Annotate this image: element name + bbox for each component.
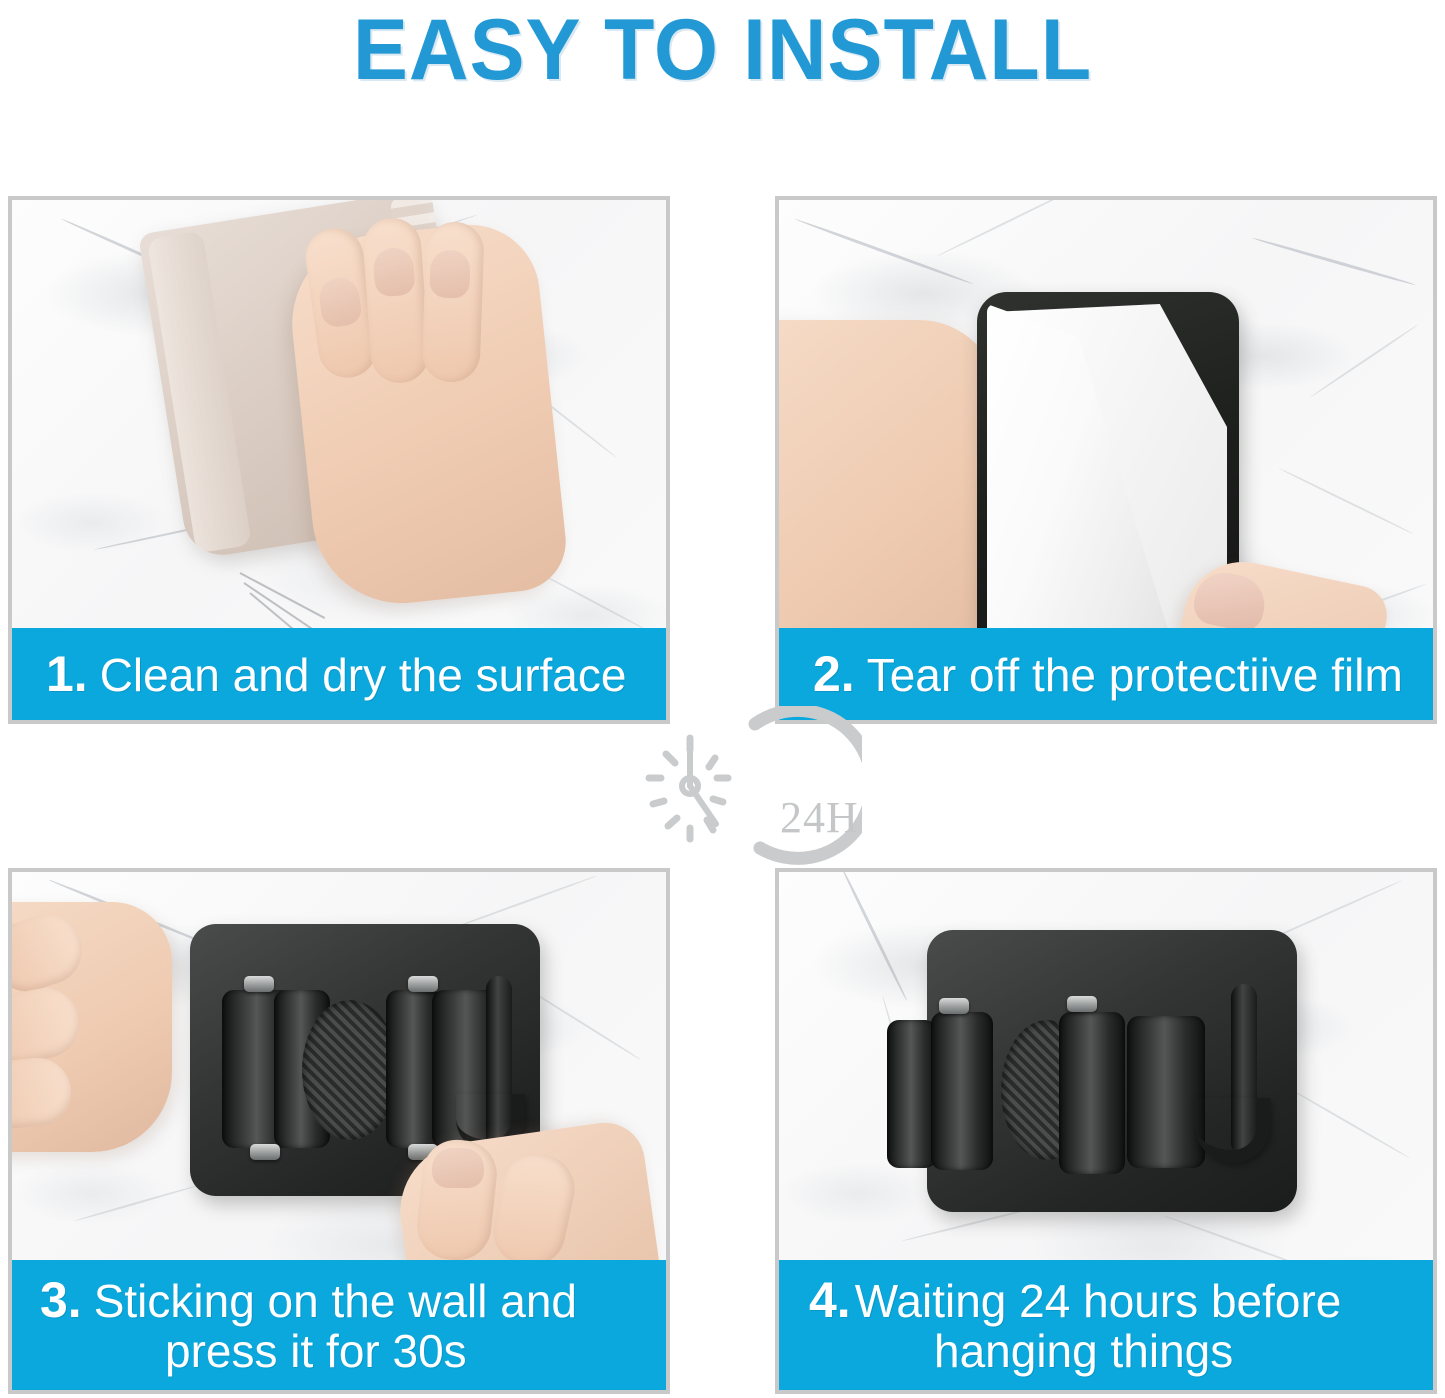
wait-duration-label: 24H: [780, 792, 859, 843]
step-4-number: 4.: [809, 1273, 851, 1327]
step-2-caption: 2. Tear off the protectiive film: [779, 628, 1433, 720]
step-panel-4: 4. Waiting 24 hours before hanging thing…: [775, 868, 1437, 1394]
step-panel-1: 1. Clean and dry the surface: [8, 196, 670, 724]
wait-24h-badge: 24H: [612, 706, 862, 866]
roller-center: [1059, 1012, 1125, 1174]
screw-left: [939, 998, 969, 1014]
step-1-caption: 1. Clean and dry the surface: [12, 628, 666, 720]
step-2-number: 2.: [813, 647, 855, 701]
step-4-text-line-1: Waiting 24 hours before: [855, 1277, 1342, 1327]
step-3-number: 3.: [40, 1273, 82, 1327]
rubber-grip-mesh: [302, 1000, 398, 1140]
step-1-number: 1.: [46, 647, 88, 701]
step-panel-3: 3. Sticking on the wall and press it for…: [8, 868, 670, 1394]
step-2-text: Tear off the protectiive film: [867, 651, 1403, 701]
step-4-caption: 4. Waiting 24 hours before hanging thing…: [779, 1260, 1433, 1390]
page-title: EASY TO INSTALL: [29, 0, 1416, 100]
roller-left-inner: [931, 1012, 993, 1170]
roller-right: [1127, 1016, 1205, 1168]
roller-left: [887, 1020, 937, 1168]
step-3-text-line-2: press it for 30s: [165, 1327, 467, 1377]
screw-left-bottom: [250, 1144, 280, 1160]
step-3-caption: 3. Sticking on the wall and press it for…: [12, 1260, 666, 1390]
screw-right: [408, 976, 438, 992]
step-1-text: Clean and dry the surface: [100, 651, 627, 701]
screw-center: [1067, 996, 1097, 1012]
step-3-text-line-1: Sticking on the wall and: [94, 1277, 577, 1327]
screw-left: [244, 976, 274, 992]
step-4-text-line-2: hanging things: [934, 1327, 1233, 1377]
step-panel-2: 2. Tear off the protectiive film: [775, 196, 1437, 724]
